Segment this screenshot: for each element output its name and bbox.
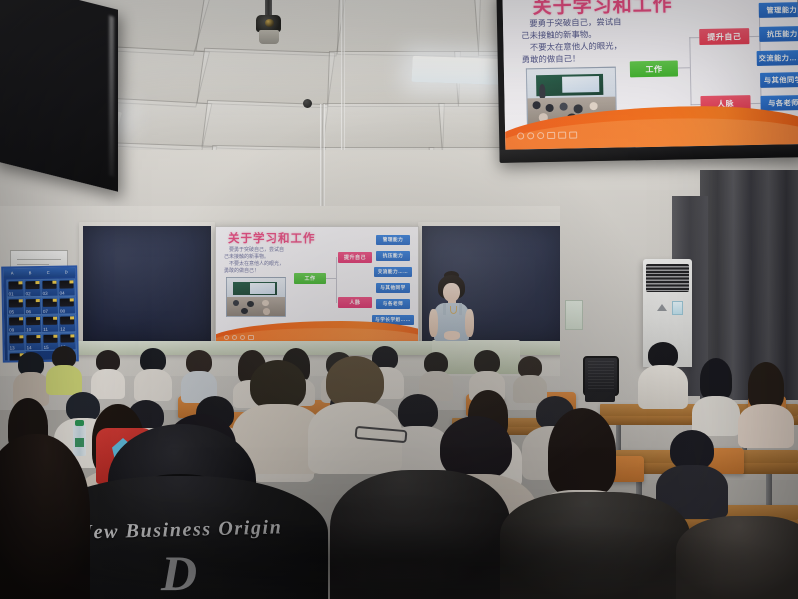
slide-body-text: 要勇于突破自己，尝试自 己未接触的新事物。 不要太在意他人的眼光， 勇敢的做自己…	[521, 16, 672, 67]
square-icon[interactable]	[547, 132, 555, 139]
slide-title-main: 关于学习和工作	[228, 230, 316, 246]
ac-label	[672, 301, 683, 315]
phone-pocket[interactable]: 03	[40, 279, 58, 297]
circle-icon[interactable]	[537, 132, 544, 139]
shirt-logo: D	[150, 548, 208, 599]
circle-icon[interactable]	[527, 132, 534, 139]
ac-vent-icon	[646, 264, 689, 292]
pocket-col-label: B	[29, 270, 32, 275]
slide-main-screen: 关于学习和工作 要勇于突破自己，尝试自 己未接触的新事物。 不要太在意他人的眼光…	[216, 227, 418, 345]
slide-node-center: 工作	[630, 60, 678, 77]
pocket-col-label: A	[11, 270, 14, 275]
pocket-col-label: C	[47, 270, 50, 275]
slide-node-branch-main: 提升自己	[338, 252, 372, 263]
foreground-person-right	[330, 470, 510, 599]
slide-footer	[505, 104, 798, 149]
foreground-person-far-right	[500, 492, 690, 599]
slide-node-leaf-main: 与其他同学	[376, 283, 410, 293]
phone-pocket[interactable]: 09	[7, 315, 25, 333]
slide-node-leaf-main: 抗压能力	[376, 251, 410, 261]
projection-screen[interactable]: 关于学习和工作 要勇于突破自己，尝试自 己未接触的新事物。 不要太在意他人的眼光…	[215, 226, 419, 346]
phone-pocket[interactable]: 12	[58, 314, 76, 332]
phone-pocket[interactable]: 07	[41, 297, 59, 315]
slide-node-leaf: 管理能力	[759, 2, 798, 18]
circle-icon[interactable]	[224, 335, 229, 340]
projector-base	[259, 30, 279, 44]
phone-pocket[interactable]: 13	[7, 333, 25, 351]
phone-pocket[interactable]: 01	[6, 279, 24, 297]
slide-embedded-photo-main	[226, 277, 286, 317]
phone-pocket[interactable]: 10	[24, 315, 42, 333]
phone-pocket[interactable]: 08	[58, 296, 76, 314]
wall-mounted-display[interactable]: 关于学习和工作 要勇于突破自己，尝试自 己未接触的新事物。 不要太在意他人的眼光…	[496, 0, 798, 163]
circle-icon[interactable]	[232, 335, 237, 340]
lecture-hall-photo: 关于学习和工作 要勇于突破自己，尝试自 己未接触的新事物。 不要太在意他人的眼光…	[0, 0, 798, 599]
slide-node-center-main: 工作	[294, 273, 326, 284]
ac-logo-icon	[657, 304, 667, 311]
circle-icon[interactable]	[517, 132, 524, 139]
pocket-col-label: D	[65, 270, 68, 275]
circle-icon[interactable]	[240, 335, 245, 340]
foreground-person-left	[0, 434, 90, 599]
office-chair[interactable]	[583, 356, 619, 396]
phone-pocket[interactable]: 06	[24, 297, 42, 315]
slide-node-branch: 提升自己	[699, 28, 749, 45]
slide-node-leaf: 抗压能力	[759, 26, 798, 42]
slide-node-leaf-main: 交流能力……	[374, 267, 412, 277]
slide-node-leaf: 与其他同学	[760, 72, 798, 88]
wall-panel	[565, 300, 583, 330]
slide-node-leaf-main: 与各老师	[376, 299, 410, 309]
foreground-person-edge-right	[676, 516, 798, 599]
rect-icon[interactable]	[558, 131, 566, 138]
projector-lens-icon	[265, 19, 274, 27]
slide-node-leaf: 交流能力……	[757, 50, 798, 66]
square-icon[interactable]	[248, 335, 254, 340]
slide-wall-tv: 关于学习和工作 要勇于突破自己，尝试自 己未接触的新事物。 不要太在意他人的眼光…	[502, 0, 798, 150]
slide-node-leaf-main: 管理能力	[376, 235, 410, 245]
left-wall-display	[0, 0, 118, 192]
presenter-arm	[429, 309, 438, 337]
phone-pocket[interactable]: 14	[24, 333, 42, 351]
rect-icon[interactable]	[569, 131, 577, 138]
phone-pocket[interactable]: 05	[7, 297, 25, 315]
slide-toolbar-icons[interactable]	[517, 131, 577, 139]
presenter-hands	[444, 331, 460, 340]
phone-pocket[interactable]: 04	[57, 278, 75, 296]
smoke-detector-icon	[303, 99, 312, 108]
support-pole	[341, 0, 345, 150]
slide-body-main: 要勇于突破自己，尝试自 己未接触的新事物。 不要太在意他人的眼光， 勇敢的做自己…	[224, 247, 320, 275]
necklace-icon	[450, 306, 457, 314]
blackboard-left	[83, 226, 211, 342]
phone-pocket[interactable]: 02	[23, 279, 41, 297]
slide-node-branch-main: 人脉	[338, 297, 372, 308]
presenter-arm	[465, 309, 474, 337]
phone-pocket[interactable]: 11	[41, 315, 59, 333]
